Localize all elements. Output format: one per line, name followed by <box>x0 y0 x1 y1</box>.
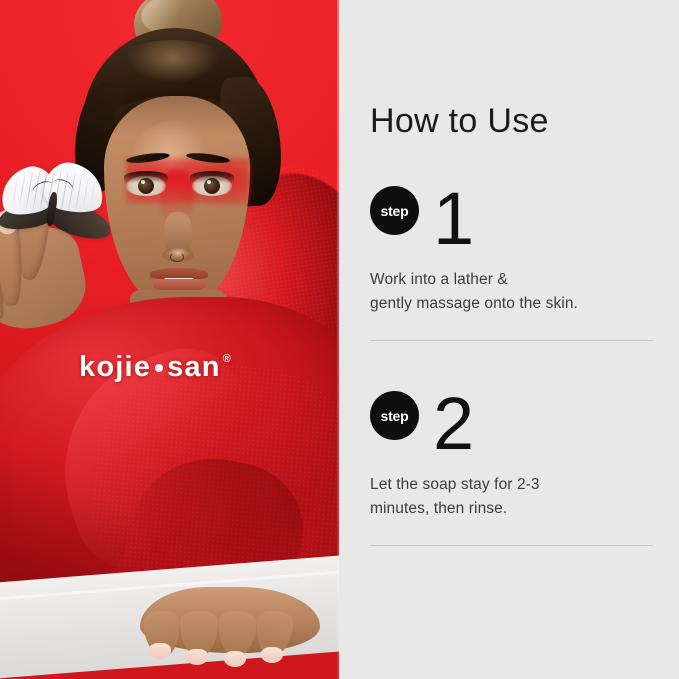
raised-hand <box>0 186 134 336</box>
step-1-number: 1 <box>433 182 474 256</box>
instructions-panel: How to Use step 1 Work into a lather &ge… <box>339 0 679 679</box>
step-2-badge: step <box>370 391 419 440</box>
step-2-badge-label: step <box>381 409 409 423</box>
brand-logo: kojie san ® <box>79 351 232 384</box>
resting-fingernail-1 <box>149 643 171 659</box>
step-1-text: Work into a lather &gently massage onto … <box>370 268 653 316</box>
divider-1 <box>370 340 653 341</box>
page-title: How to Use <box>370 104 549 138</box>
step-2-number: 2 <box>433 387 474 461</box>
dot-separator-icon <box>155 364 163 372</box>
resting-fingernail-4 <box>261 647 283 663</box>
divider-2 <box>370 545 653 546</box>
resting-fingernail-3 <box>224 651 246 667</box>
step-2-header: step 2 <box>370 391 653 467</box>
step-1-badge: step <box>370 186 419 235</box>
eyelid-left <box>124 171 168 183</box>
step-1-header: step 1 <box>370 186 653 262</box>
panel-seam <box>337 0 339 679</box>
step-item-2: step 2 Let the soap stay for 2-3minutes,… <box>370 391 653 521</box>
step-2-text: Let the soap stay for 2-3minutes, then r… <box>370 473 653 521</box>
resting-fingernail-2 <box>186 649 208 665</box>
butterfly-icon <box>0 162 112 258</box>
hair-highlight <box>108 40 238 100</box>
registered-trademark-symbol: ® <box>223 354 232 365</box>
brand-name-part1: kojie <box>79 351 151 384</box>
resting-hand <box>92 577 322 669</box>
eyelid-right <box>190 171 234 183</box>
nose-ring <box>170 252 184 262</box>
forehead-shading <box>114 96 240 136</box>
product-howto-card: kojie san ® How to Use step 1 Work into … <box>0 0 679 679</box>
brand-name-part2: san <box>167 351 221 384</box>
eye-right <box>192 176 232 196</box>
step-1-badge-label: step <box>381 204 409 218</box>
step-item-1: step 1 Work into a lather &gently massag… <box>370 186 653 316</box>
product-photo-panel: kojie san ® <box>0 0 339 679</box>
